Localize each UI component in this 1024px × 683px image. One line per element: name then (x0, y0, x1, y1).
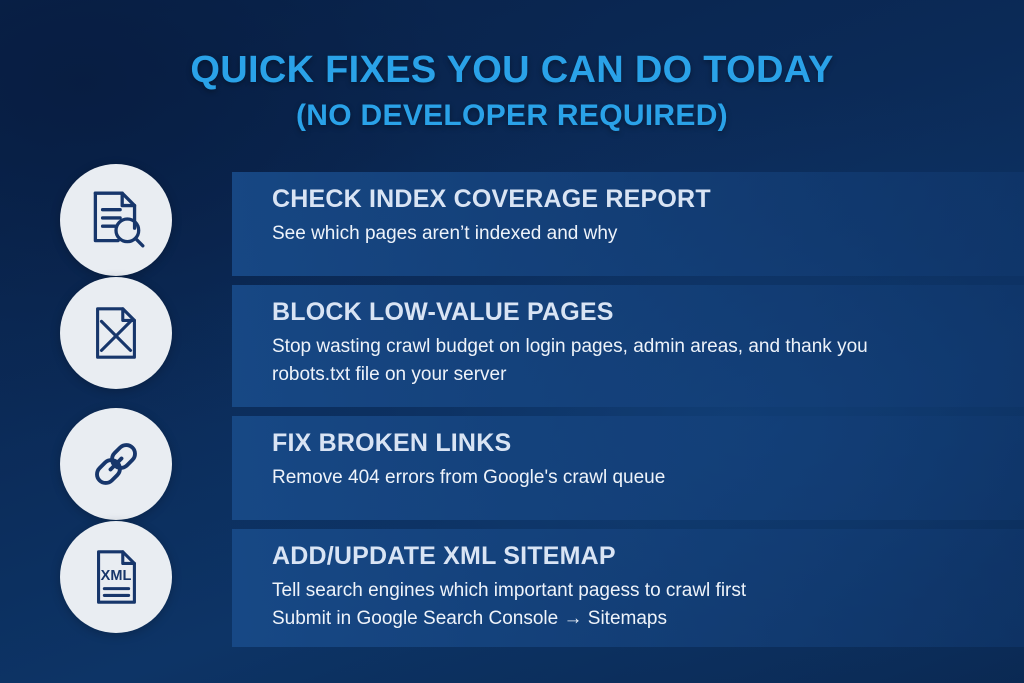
icon-circle (60, 277, 172, 389)
item-text: CHECK INDEX COVERAGE REPORT See which pa… (232, 172, 1024, 257)
chain-link-icon (85, 433, 147, 495)
document-search-icon (83, 187, 149, 253)
icon-circle (60, 164, 172, 276)
item-description: Stop wasting crawl budget on login pages… (272, 333, 1000, 360)
item-title: FIX BROKEN LINKS (272, 428, 1000, 458)
item-description: Tell search engines which important page… (272, 577, 1000, 604)
page-title: QUICK FIXES YOU CAN DO TODAY (0, 48, 1024, 92)
item-text: BLOCK LOW-VALUE PAGES Stop wasting crawl… (232, 285, 1024, 398)
item-description: Submit in Google Search Console → Sitema… (272, 605, 1000, 632)
list-item: FIX BROKEN LINKS Remove 404 errors from … (0, 416, 1024, 520)
icon-holder (0, 285, 232, 389)
icon-circle (60, 408, 172, 520)
xml-document-icon: XML (85, 546, 147, 608)
item-text: ADD/UPDATE XML SITEMAP Tell search engin… (232, 529, 1024, 642)
tips-list: CHECK INDEX COVERAGE REPORT See which pa… (0, 172, 1024, 656)
item-title: CHECK INDEX COVERAGE REPORT (272, 184, 1000, 214)
list-item: XML ADD/UPDATE XML SITEMAP Tell search e… (0, 529, 1024, 647)
icon-holder (0, 416, 232, 520)
page-subtitle: (NO DEVELOPER REQUIRED) (0, 96, 1024, 136)
item-description: Remove 404 errors from Google's crawl qu… (272, 464, 1000, 491)
list-item: BLOCK LOW-VALUE PAGES Stop wasting crawl… (0, 285, 1024, 407)
icon-holder: XML (0, 529, 232, 633)
svg-text:XML: XML (101, 568, 132, 584)
item-title: ADD/UPDATE XML SITEMAP (272, 541, 1000, 571)
item-title: BLOCK LOW-VALUE PAGES (272, 297, 1000, 327)
infographic-canvas: QUICK FIXES YOU CAN DO TODAY (NO DEVELOP… (0, 0, 1024, 683)
item-description: robots.txt file on your server (272, 361, 1000, 388)
heading-block: QUICK FIXES YOU CAN DO TODAY (NO DEVELOP… (0, 48, 1024, 136)
item-description: See which pages aren’t indexed and why (272, 220, 1000, 247)
icon-circle: XML (60, 521, 172, 633)
list-item: CHECK INDEX COVERAGE REPORT See which pa… (0, 172, 1024, 276)
item-text: FIX BROKEN LINKS Remove 404 errors from … (232, 416, 1024, 501)
icon-holder (0, 172, 232, 276)
document-blocked-icon (85, 302, 147, 364)
